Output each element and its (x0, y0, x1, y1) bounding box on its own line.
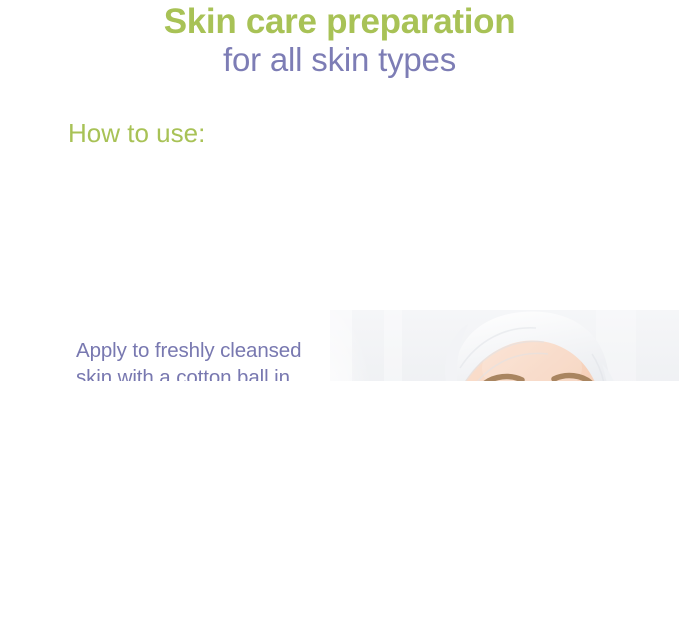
step-1-photo (296, 310, 679, 381)
step-1-text: Apply to freshly cleansed skin with a co… (76, 338, 308, 381)
step-1-panel: STEP 1 Apply to freshly cleansed skin wi… (0, 155, 679, 381)
header: Skin care preparation for all skin types… (0, 0, 679, 155)
step-2-panel: STEP 2 Allow the product to dry without … (0, 392, 679, 620)
how-to-use-label: How to use: (68, 118, 205, 148)
butterfly-leaf-logo (16, 556, 70, 608)
page-title-sub: for all skin types (0, 41, 679, 79)
page-title-main: Skin care preparation (0, 2, 679, 42)
